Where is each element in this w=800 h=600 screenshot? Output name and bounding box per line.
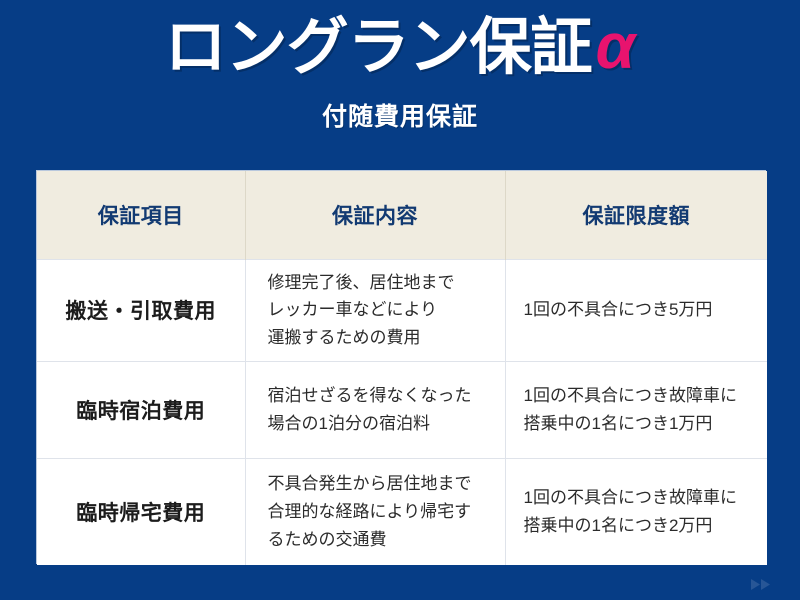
watermark	[751, 577, 784, 592]
table-row: 臨時帰宅費用 不具合発生から居住地まで合理的な経路により帰宅するための交通費 1…	[37, 458, 767, 565]
page-subtitle: 付随費用保証	[0, 97, 800, 133]
warranty-table: 保証項目 保証内容 保証限度額 搬送・引取費用 修理完了後、居住地までレッカー車…	[37, 171, 767, 565]
cell-item: 搬送・引取費用	[37, 259, 245, 361]
column-header-item: 保証項目	[37, 171, 245, 259]
cell-detail: 宿泊せざるを得なくなった場合の1泊分の宿泊料	[245, 361, 505, 458]
cell-limit: 1回の不具合につき故障車に搭乗中の1名につき2万円	[505, 458, 767, 565]
title-block: ロングラン保証α 付随費用保証	[0, 0, 800, 133]
brand-mark-icon	[751, 577, 777, 592]
cell-limit: 1回の不具合につき5万円	[505, 259, 767, 361]
cell-limit: 1回の不具合につき故障車に搭乗中の1名につき1万円	[505, 361, 767, 458]
column-header-content: 保証内容	[245, 171, 505, 259]
cell-item: 臨時帰宅費用	[37, 458, 245, 565]
page-title-alpha: α	[596, 10, 636, 82]
table-body: 搬送・引取費用 修理完了後、居住地までレッカー車などにより運搬するための費用 1…	[37, 259, 767, 565]
cell-detail: 修理完了後、居住地までレッカー車などにより運搬するための費用	[245, 259, 505, 361]
table-header: 保証項目 保証内容 保証限度額	[37, 171, 767, 259]
table-row: 臨時宿泊費用 宿泊せざるを得なくなった場合の1泊分の宿泊料 1回の不具合につき故…	[37, 361, 767, 458]
warranty-table-container: 保証項目 保証内容 保証限度額 搬送・引取費用 修理完了後、居住地までレッカー車…	[36, 170, 766, 564]
table-row: 搬送・引取費用 修理完了後、居住地までレッカー車などにより運搬するための費用 1…	[37, 259, 767, 361]
page-title: ロングラン保証α	[0, 14, 800, 79]
column-header-limit: 保証限度額	[505, 171, 767, 259]
page-title-text: ロングラン保証	[165, 13, 592, 82]
table-header-row: 保証項目 保証内容 保証限度額	[37, 171, 767, 259]
cell-item: 臨時宿泊費用	[37, 361, 245, 458]
cell-detail: 不具合発生から居住地まで合理的な経路により帰宅するための交通費	[245, 458, 505, 565]
